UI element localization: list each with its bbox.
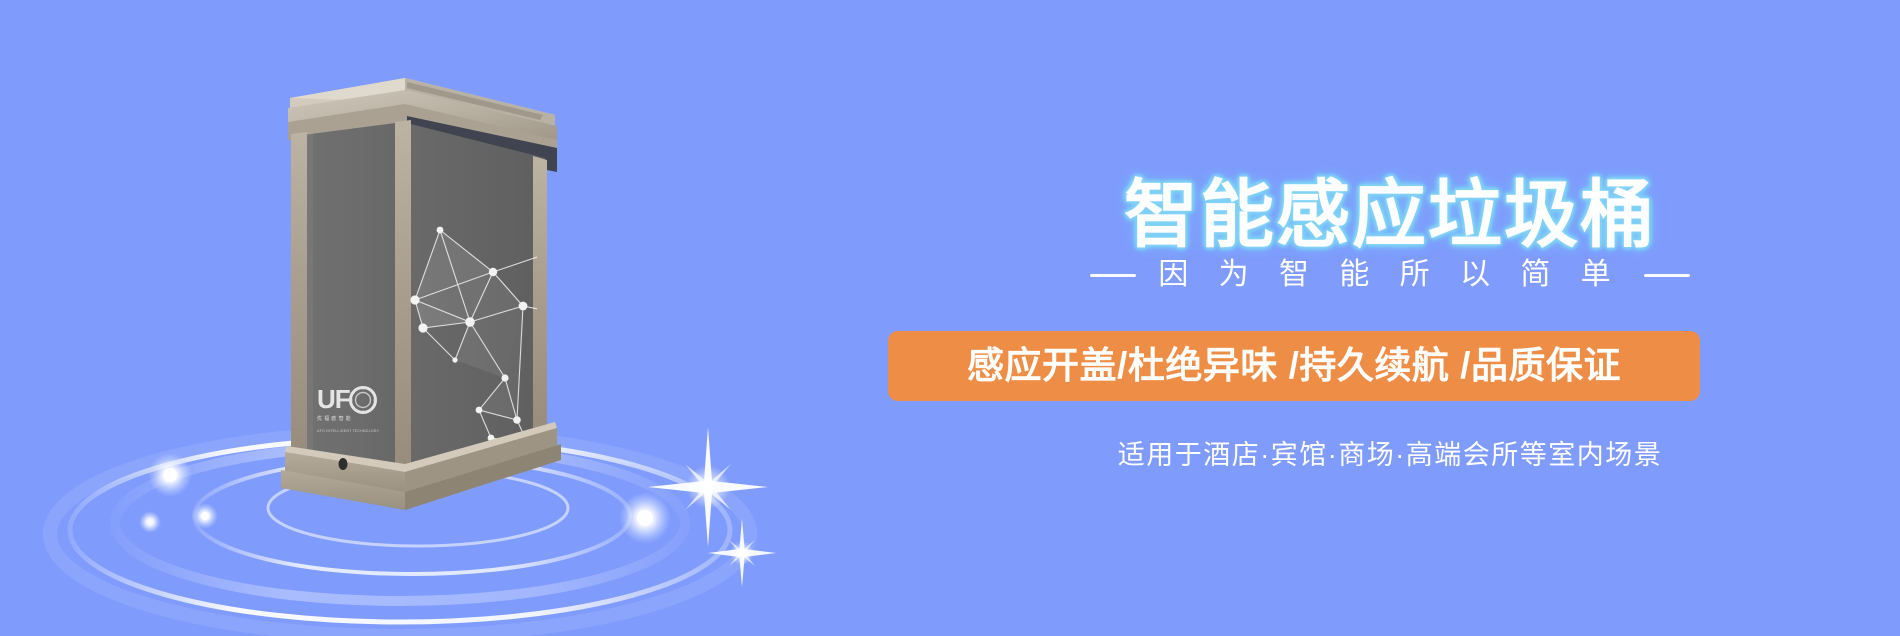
scene-note: 适用于酒店·宾馆·商场·高端会所等室内场景 <box>880 438 1900 472</box>
logo-tagline-en: UFO INTELLIGENT TECHNOLOGY <box>317 429 380 433</box>
bin-rail-center <box>395 120 411 480</box>
subtitle-dash-left <box>1090 274 1136 277</box>
base-sensor-icon <box>339 458 348 470</box>
subtitle-row: 因 为 智 能 所 以 简 单 <box>880 258 1900 292</box>
glow-dot-2-core <box>201 512 209 520</box>
promo-banner: UF 优 福 欧 智 能 UFO INTELLIGENT TECHNOLOGY <box>0 0 1900 636</box>
glow-dot-3 <box>139 511 161 533</box>
feature-badge: 感应开盖/杜绝异味 /持久续航 /品质保证 <box>888 331 1700 401</box>
subtitle-dash-right <box>1644 274 1690 277</box>
feature-badge-text: 感应开盖/杜绝异味 /持久续航 /品质保证 <box>967 345 1621 387</box>
svg-text:UF: UF <box>317 384 350 414</box>
glow-dot-4-core <box>637 510 653 526</box>
trash-bin-illustration: UF 优 福 欧 智 能 UFO INTELLIGENT TECHNOLOGY <box>255 60 625 520</box>
page-title: 智能感应垃圾桶 <box>880 172 1900 258</box>
subtitle-text: 因 为 智 能 所 以 简 单 <box>1158 258 1621 292</box>
glow-dot-1-core <box>163 468 177 482</box>
bin-rail-right <box>533 156 547 438</box>
product-scene: UF 优 福 欧 智 能 UFO INTELLIGENT TECHNOLOGY <box>0 0 880 636</box>
logo-tagline-cn: 优 福 欧 智 能 <box>317 415 351 422</box>
banner-text-block: 智能感应垃圾桶 因 为 智 能 所 以 简 单 感应开盖/杜绝异味 /持久续航 … <box>880 0 1900 636</box>
bin-rail-left <box>291 132 307 460</box>
